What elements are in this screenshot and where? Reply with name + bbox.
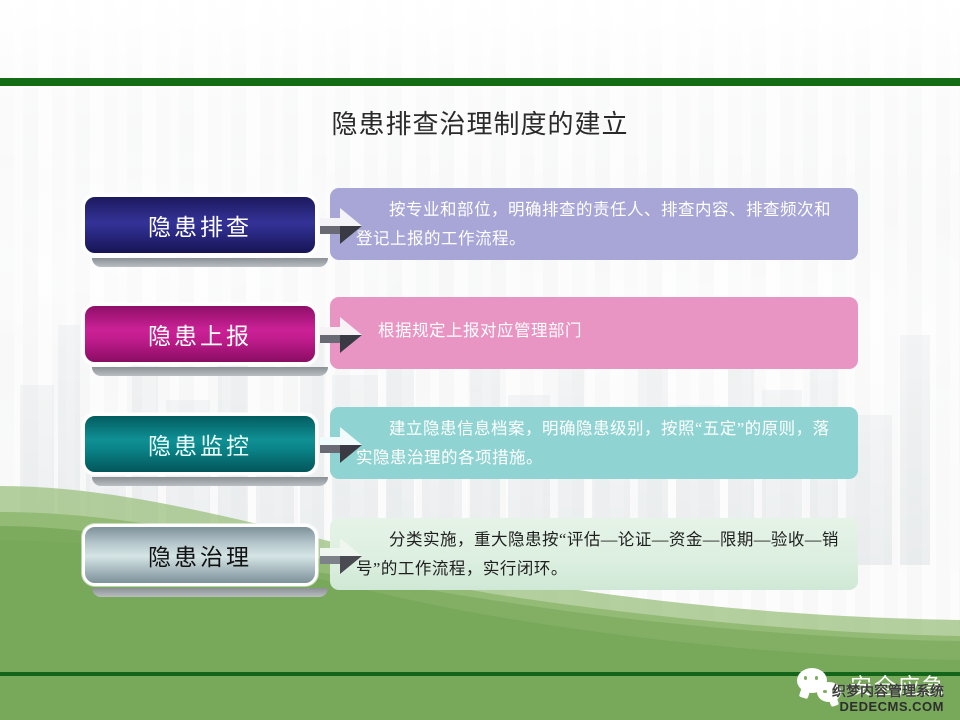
- watermark-en: DEDECMS.COM: [832, 700, 944, 714]
- row-3-badge-shadow: [92, 477, 328, 486]
- row-2-badge-label: 隐患上报: [148, 317, 252, 351]
- site-watermark: 织梦内容管理系统 DEDECMS.COM: [832, 686, 944, 714]
- process-row-1: 按专业和部位，明确排查的责任人、排查内容、排查频次和登记上报的工作流程。 隐患排…: [0, 188, 960, 274]
- row-3-badge[interactable]: 隐患监控: [82, 413, 318, 475]
- row-2-badge[interactable]: 隐患上报: [82, 303, 318, 365]
- row-4-badge-shadow: [92, 588, 328, 597]
- row-1-badge-shadow: [92, 258, 328, 267]
- row-1-arrow-icon: [318, 205, 364, 247]
- row-3-description-panel: 建立隐患信息档案，明确隐患级别，按照“五定”的原则，落实隐患治理的各项措施。: [330, 407, 858, 479]
- row-4-description-panel: 分类实施，重大隐患按“评估—论证—资金—限期—验收—销号”的工作流程，实行闭环。: [330, 518, 858, 590]
- watermark-cn: 织梦内容管理系统: [832, 686, 944, 701]
- top-green-rule-highlight: [0, 86, 960, 88]
- row-1-description-text: 按专业和部位，明确排查的责任人、排查内容、排查频次和登记上报的工作流程。: [356, 195, 842, 253]
- row-2-badge-shadow: [92, 367, 328, 376]
- row-2-description-text: 根据规定上报对应管理部门: [378, 316, 842, 345]
- slide-canvas: 隐患排查治理制度的建立 按专业和部位，明确排查的责任人、排查内容、排查频次和登记…: [0, 0, 960, 720]
- row-4-badge-label: 隐患治理: [148, 538, 252, 572]
- row-1-description-panel: 按专业和部位，明确排查的责任人、排查内容、排查频次和登记上报的工作流程。: [330, 188, 858, 260]
- page-title: 隐患排查治理制度的建立: [0, 104, 960, 141]
- row-4-description-text: 分类实施，重大隐患按“评估—论证—资金—限期—验收—销号”的工作流程，实行闭环。: [356, 525, 842, 583]
- row-3-description-text: 建立隐患信息档案，明确隐患级别，按照“五定”的原则，落实隐患治理的各项措施。: [356, 414, 842, 472]
- row-3-badge-label: 隐患监控: [148, 427, 252, 461]
- row-2-arrow-icon: [318, 314, 364, 356]
- process-row-3: 建立隐患信息档案，明确隐患级别，按照“五定”的原则，落实隐患治理的各项措施。 隐…: [0, 407, 960, 493]
- row-4-badge[interactable]: 隐患治理: [82, 524, 318, 586]
- row-3-arrow-icon: [318, 424, 364, 466]
- top-green-rule: [0, 78, 960, 86]
- process-row-2: 根据规定上报对应管理部门 隐患上报: [0, 297, 960, 383]
- row-4-arrow-icon: [318, 535, 364, 577]
- row-1-badge[interactable]: 隐患排查: [82, 194, 318, 256]
- row-2-description-panel: 根据规定上报对应管理部门: [330, 297, 858, 369]
- row-1-badge-label: 隐患排查: [148, 208, 252, 242]
- process-row-4: 分类实施，重大隐患按“评估—论证—资金—限期—验收—销号”的工作流程，实行闭环。…: [0, 518, 960, 604]
